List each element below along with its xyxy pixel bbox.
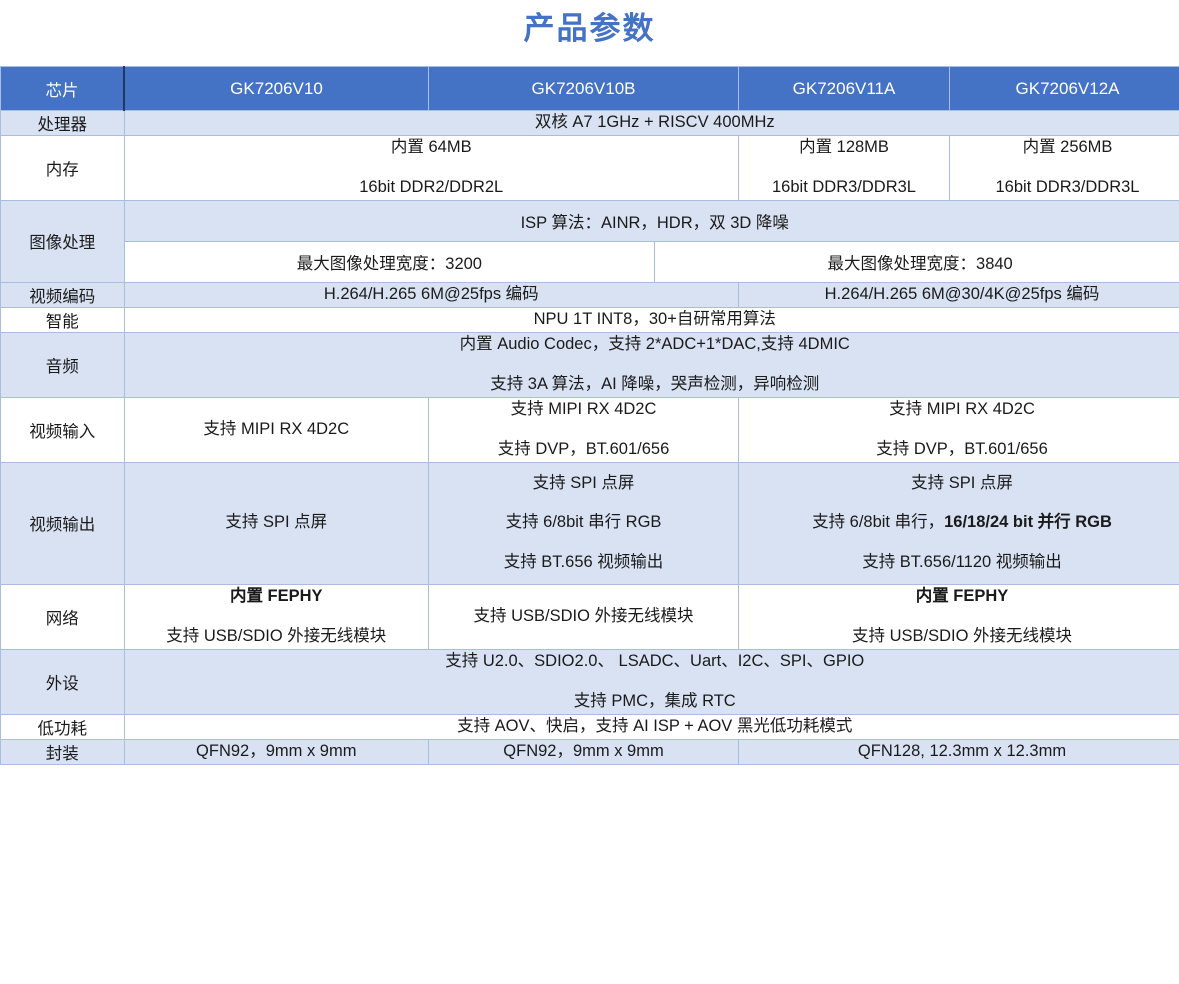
spec-row: 视频输出支持 SPI 点屏支持 SPI 点屏支持 6/8bit 串行 RGB支持… xyxy=(1,462,1179,585)
row-label-外设: 外设 xyxy=(1,650,125,715)
cell-text: 支持 USB/SDIO 外接无线模块 xyxy=(166,627,386,645)
column-header-gk7206v12a: GK7206V12A xyxy=(950,67,1179,111)
spec-row: 智能NPU 1T INT8，30+自研常用算法 xyxy=(1,307,1179,332)
cell-line: 内置 FEPHY xyxy=(125,585,429,609)
cell-line: 支持 USB/SDIO 外接无线模块 xyxy=(429,605,738,629)
row-value-cell: 内置 128MB16bit DDR3/DDR3L xyxy=(739,136,950,201)
row-label-图像处理: 图像处理 xyxy=(1,200,125,282)
header-row: 芯片 GK7206V10 GK7206V10B GK7206V11A GK720… xyxy=(1,67,1179,111)
cell-line: 支持 BT.656/1120 视频输出 xyxy=(739,551,1179,575)
cell-line: 最大图像处理宽度：3200 xyxy=(131,250,649,274)
cell-line: 支持 U2.0、SDIO2.0、 LSADC、Uart、I2C、SPI、GPIO xyxy=(125,650,1179,674)
cell-line: 支持 SPI 点屏 xyxy=(125,511,429,535)
cell-line: 支持 AOV、快启，支持 AI ISP + AOV 黑光低功耗模式 xyxy=(125,715,1179,739)
column-header-chip: 芯片 xyxy=(1,67,125,111)
row-value-cell: 内置 64MB16bit DDR2/DDR2L xyxy=(124,136,739,201)
spec-row: 视频编码H.264/H.265 6M@25fps 编码H.264/H.265 6… xyxy=(1,282,1179,307)
spec-table-body: 处理器双核 A7 1GHz + RISCV 400MHz内存内置 64MB16b… xyxy=(1,111,1179,765)
row-value-cell: 支持 AOV、快启，支持 AI ISP + AOV 黑光低功耗模式 xyxy=(124,714,1179,739)
cell-line: 16bit DDR3/DDR3L xyxy=(739,176,949,200)
inner-cell-top: ISP 算法：AINR，HDR，双 3D 降噪 xyxy=(125,201,1179,242)
cell-text: 支持 SPI 点屏 xyxy=(911,474,1013,492)
row-value-cell: 支持 SPI 点屏支持 6/8bit 串行 RGB支持 BT.656 视频输出 xyxy=(429,462,739,585)
row-label-内存: 内存 xyxy=(1,136,125,201)
cell-line: NPU 1T INT8，30+自研常用算法 xyxy=(125,308,1179,332)
inner-split-table: ISP 算法：AINR，HDR，双 3D 降噪最大图像处理宽度：3200最大图像… xyxy=(125,201,1179,282)
cell-text: 支持 BT.656/1120 视频输出 xyxy=(862,553,1062,571)
spec-row: 网络内置 FEPHY支持 USB/SDIO 外接无线模块支持 USB/SDIO … xyxy=(1,585,1179,650)
row-label-视频输入: 视频输入 xyxy=(1,397,125,462)
row-value-cell: 支持 USB/SDIO 外接无线模块 xyxy=(429,585,739,650)
cell-line: 支持 MIPI RX 4D2C xyxy=(429,398,738,422)
spec-row: 视频输入支持 MIPI RX 4D2C支持 MIPI RX 4D2C支持 DVP… xyxy=(1,397,1179,462)
cell-line: 内置 256MB xyxy=(950,136,1179,160)
cell-text-emphasis: 内置 FEPHY xyxy=(916,587,1009,605)
product-spec-page: 产品参数 芯片 GK7206V10 GK7206V10B GK7206V11A … xyxy=(0,0,1179,984)
cell-line: 内置 FEPHY xyxy=(739,585,1179,609)
cell-text: 支持 USB/SDIO 外接无线模块 xyxy=(852,627,1072,645)
cell-line: 支持 MIPI RX 4D2C xyxy=(125,418,429,442)
cell-line: QFN128, 12.3mm x 12.3mm xyxy=(739,740,1179,764)
spec-table: 芯片 GK7206V10 GK7206V10B GK7206V11A GK720… xyxy=(0,66,1179,765)
cell-text: 支持 6/8bit 串行， xyxy=(812,513,944,531)
spec-row: 音频内置 Audio Codec，支持 2*ADC+1*DAC,支持 4DMIC… xyxy=(1,332,1179,397)
cell-line: 支持 6/8bit 串行 RGB xyxy=(435,511,732,535)
inner-row-bottom: 最大图像处理宽度：3200最大图像处理宽度：3840 xyxy=(125,241,1179,282)
cell-line: 16bit DDR3/DDR3L xyxy=(950,176,1179,200)
inner-row-top: ISP 算法：AINR，HDR，双 3D 降噪 xyxy=(125,201,1179,242)
row-value-cell: NPU 1T INT8，30+自研常用算法 xyxy=(124,307,1179,332)
cell-line: 双核 A7 1GHz + RISCV 400MHz xyxy=(125,111,1179,135)
column-header-gk7206v10b: GK7206V10B xyxy=(429,67,739,111)
spec-row: 内存内置 64MB16bit DDR2/DDR2L内置 128MB16bit D… xyxy=(1,136,1179,201)
row-value-cell: 双核 A7 1GHz + RISCV 400MHz xyxy=(124,111,1179,136)
cell-line: 内置 128MB xyxy=(739,136,949,160)
spec-row: 处理器双核 A7 1GHz + RISCV 400MHz xyxy=(1,111,1179,136)
page-title: 产品参数 xyxy=(0,0,1179,66)
column-header-gk7206v10: GK7206V10 xyxy=(124,67,429,111)
cell-line: 支持 3A 算法，AI 降噪，哭声检测，异响检测 xyxy=(125,373,1179,397)
cell-line: 支持 USB/SDIO 外接无线模块 xyxy=(125,625,429,649)
row-value-cell: 支持 SPI 点屏 xyxy=(124,462,429,585)
cell-line: 支持 SPI 点屏 xyxy=(435,472,732,496)
spec-table-header: 芯片 GK7206V10 GK7206V10B GK7206V11A GK720… xyxy=(1,67,1179,111)
row-value-cell: 支持 MIPI RX 4D2C支持 DVP，BT.601/656 xyxy=(429,397,739,462)
row-label-视频编码: 视频编码 xyxy=(1,282,125,307)
cell-line: 支持 BT.656 视频输出 xyxy=(435,551,732,575)
row-value-cell: 内置 Audio Codec，支持 2*ADC+1*DAC,支持 4DMIC支持… xyxy=(124,332,1179,397)
row-value-split: ISP 算法：AINR，HDR，双 3D 降噪最大图像处理宽度：3200最大图像… xyxy=(124,200,1179,282)
row-value-cell: H.264/H.265 6M@25fps 编码 xyxy=(124,282,739,307)
spec-row: 外设支持 U2.0、SDIO2.0、 LSADC、Uart、I2C、SPI、GP… xyxy=(1,650,1179,715)
inner-cell-bottom: 最大图像处理宽度：3200 xyxy=(125,241,655,282)
row-label-处理器: 处理器 xyxy=(1,111,125,136)
cell-line: H.264/H.265 6M@30/4K@25fps 编码 xyxy=(739,283,1179,307)
row-value-cell: 支持 MIPI RX 4D2C xyxy=(124,397,429,462)
cell-text-emphasis: 16/18/24 bit 并行 RGB xyxy=(944,513,1112,531)
row-label-封装: 封装 xyxy=(1,739,125,764)
row-value-cell: QFN92，9mm x 9mm xyxy=(124,739,429,764)
cell-line: 16bit DDR2/DDR2L xyxy=(125,176,739,200)
cell-line: 内置 64MB xyxy=(125,136,739,160)
cell-line: 内置 Audio Codec，支持 2*ADC+1*DAC,支持 4DMIC xyxy=(125,333,1179,357)
cell-line: 支持 USB/SDIO 外接无线模块 xyxy=(739,625,1179,649)
cell-line: 支持 SPI 点屏 xyxy=(739,472,1179,496)
row-label-音频: 音频 xyxy=(1,332,125,397)
spec-row: 图像处理ISP 算法：AINR，HDR，双 3D 降噪最大图像处理宽度：3200… xyxy=(1,200,1179,282)
row-value-cell: H.264/H.265 6M@30/4K@25fps 编码 xyxy=(739,282,1179,307)
row-label-低功耗: 低功耗 xyxy=(1,714,125,739)
spec-row: 低功耗支持 AOV、快启，支持 AI ISP + AOV 黑光低功耗模式 xyxy=(1,714,1179,739)
row-label-视频输出: 视频输出 xyxy=(1,462,125,585)
spec-row: 封装QFN92，9mm x 9mmQFN92，9mm x 9mmQFN128, … xyxy=(1,739,1179,764)
cell-line: QFN92，9mm x 9mm xyxy=(429,740,738,764)
inner-cell-bottom: 最大图像处理宽度：3840 xyxy=(655,241,1179,282)
row-label-网络: 网络 xyxy=(1,585,125,650)
row-value-cell: 内置 256MB16bit DDR3/DDR3L xyxy=(950,136,1179,201)
cell-line: 支持 DVP，BT.601/656 xyxy=(739,438,1179,462)
cell-text-emphasis: 内置 FEPHY xyxy=(230,587,323,605)
cell-line: H.264/H.265 6M@25fps 编码 xyxy=(125,283,739,307)
cell-line: 支持 6/8bit 串行，16/18/24 bit 并行 RGB xyxy=(739,511,1179,535)
row-value-cell: 支持 MIPI RX 4D2C支持 DVP，BT.601/656 xyxy=(739,397,1179,462)
cell-line: 最大图像处理宽度：3840 xyxy=(661,250,1179,274)
row-label-智能: 智能 xyxy=(1,307,125,332)
cell-line: ISP 算法：AINR，HDR，双 3D 降噪 xyxy=(131,209,1179,233)
row-value-cell: 支持 SPI 点屏支持 6/8bit 串行，16/18/24 bit 并行 RG… xyxy=(739,462,1179,585)
row-value-cell: QFN92，9mm x 9mm xyxy=(429,739,739,764)
cell-line: QFN92，9mm x 9mm xyxy=(125,740,429,764)
row-value-cell: QFN128, 12.3mm x 12.3mm xyxy=(739,739,1179,764)
cell-line: 支持 MIPI RX 4D2C xyxy=(739,398,1179,422)
cell-line: 支持 DVP，BT.601/656 xyxy=(429,438,738,462)
row-value-cell: 内置 FEPHY支持 USB/SDIO 外接无线模块 xyxy=(124,585,429,650)
row-value-cell: 支持 U2.0、SDIO2.0、 LSADC、Uart、I2C、SPI、GPIO… xyxy=(124,650,1179,715)
column-header-gk7206v11a: GK7206V11A xyxy=(739,67,950,111)
cell-line: 支持 PMC，集成 RTC xyxy=(125,690,1179,714)
row-value-cell: 内置 FEPHY支持 USB/SDIO 外接无线模块 xyxy=(739,585,1179,650)
